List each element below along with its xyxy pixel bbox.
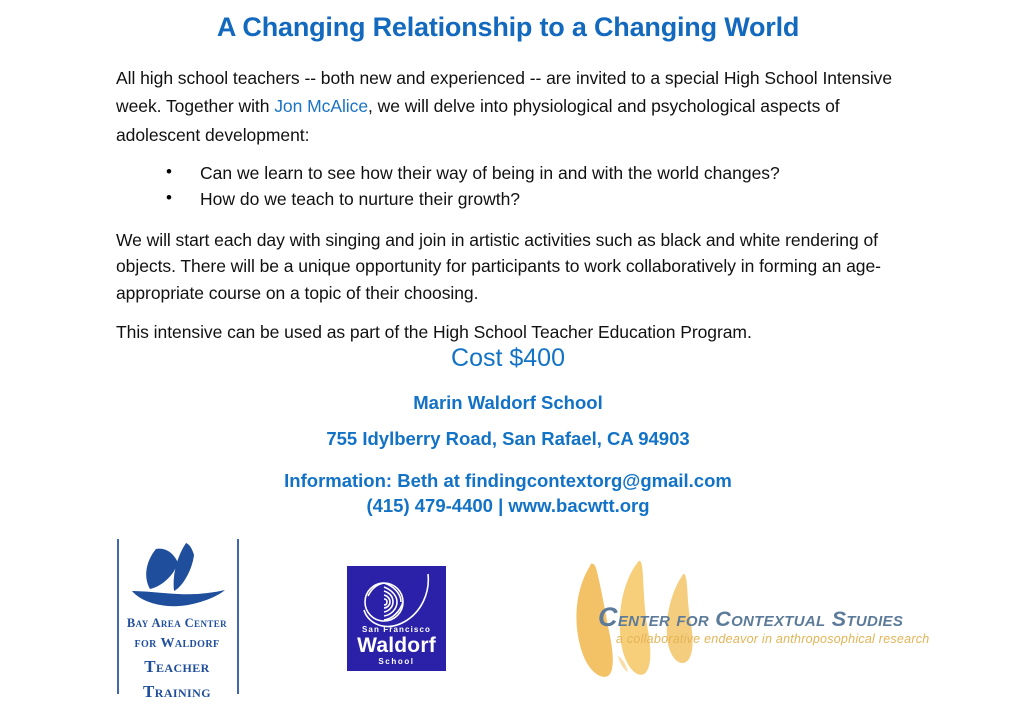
list-item-label: How do we teach to nurture their growth?: [200, 189, 520, 209]
bay-area-center-logo: Bay Area Center for Waldorf Teacher Trai…: [104, 531, 250, 701]
list-item: • How do we teach to nurture their growt…: [166, 187, 906, 212]
list-item: • Can we learn to see how their way of b…: [166, 161, 906, 186]
venue-address: 755 Idylberry Road, San Rafael, CA 94903: [0, 429, 1016, 449]
presenter-name: Jon McAlice: [274, 96, 368, 116]
logo-line-3: Teacher: [120, 654, 234, 680]
logo-tagline: a collaborative endeavor in anthroposoph…: [616, 632, 960, 646]
logo-line-1: Bay Area Center: [120, 614, 234, 633]
program-credit-paragraph: This intensive can be used as part of th…: [116, 319, 906, 346]
contact-phone-web-line[interactable]: (415) 479-4400 | www.bacwtt.org: [0, 494, 1016, 519]
logo-left-rule: [117, 539, 119, 694]
logo-wordmark: Center for Contextual Studies: [598, 602, 960, 633]
sailboat-icon: [126, 541, 230, 609]
body-content: All high school teachers -- both new and…: [116, 64, 906, 357]
logo-row: Bay Area Center for Waldorf Teacher Trai…: [0, 520, 1016, 705]
logo-title-rest: enter for Contextual Studies: [618, 607, 903, 631]
activities-paragraph: We will start each day with singing and …: [116, 227, 906, 307]
logo-wordmark: Bay Area Center for Waldorf Teacher Trai…: [120, 614, 234, 705]
logo-wordmark: San Francisco Waldorf School: [347, 626, 446, 667]
contact-email-line[interactable]: Information: Beth at findingcontextorg@g…: [0, 469, 1016, 494]
bullet-icon: •: [166, 186, 172, 211]
intro-paragraph: All high school teachers -- both new and…: [116, 64, 906, 149]
questions-list: • Can we learn to see how their way of b…: [116, 161, 906, 213]
logo-right-rule: [237, 539, 239, 694]
cost-heading: Cost $400: [0, 344, 1016, 373]
logo-line-2: for Waldorf: [120, 633, 234, 654]
bullet-icon: •: [166, 160, 172, 185]
logo-line-4: Training: [120, 679, 234, 705]
logo-line-2: Waldorf: [347, 635, 446, 657]
page-title: A Changing Relationship to a Changing Wo…: [0, 12, 1016, 43]
logo-drop-cap: C: [598, 602, 618, 632]
san-francisco-waldorf-school-logo: San Francisco Waldorf School: [347, 566, 446, 671]
list-item-label: Can we learn to see how their way of bei…: [200, 163, 780, 183]
logo-line-3: School: [347, 657, 446, 667]
venue-name: Marin Waldorf School: [0, 393, 1016, 413]
flyer-page: A Changing Relationship to a Changing Wo…: [0, 0, 1016, 705]
contact-block: Marin Waldorf School 755 Idylberry Road,…: [0, 393, 1016, 519]
center-for-contextual-studies-logo: Center for Contextual Studies a collabor…: [560, 560, 960, 685]
